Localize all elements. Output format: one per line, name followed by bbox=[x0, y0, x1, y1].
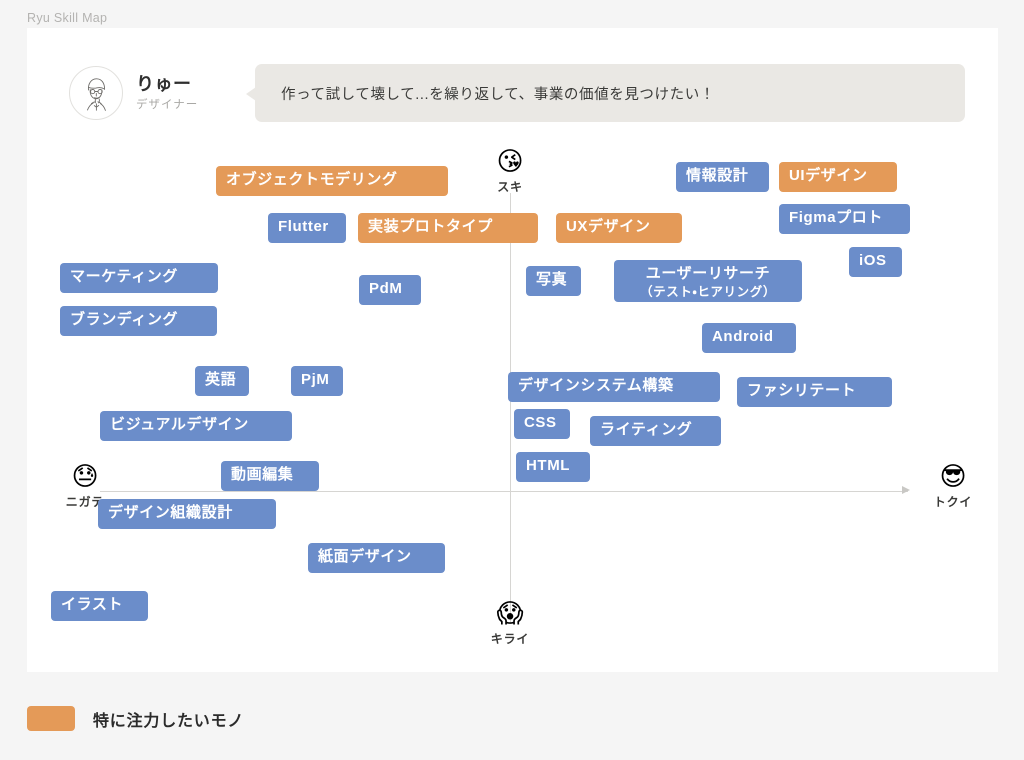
legend-swatch bbox=[27, 706, 75, 731]
skill-chip[interactable]: 英語 bbox=[195, 366, 249, 396]
skill-chip[interactable]: オブジェクトモデリング bbox=[216, 166, 448, 196]
skill-chip[interactable]: PjM bbox=[291, 366, 343, 396]
sunglasses-face-emoji-icon: 😎 bbox=[918, 463, 988, 489]
skill-chip[interactable]: デザイン組織設計 bbox=[98, 499, 276, 529]
skill-map-canvas: りゅー デザイナー 作って試して壊して...を繰り返して、事業の価値を見つけたい… bbox=[27, 28, 998, 672]
axis-pole-kirai-label: キライ bbox=[475, 630, 545, 647]
skill-chip[interactable]: UXデザイン bbox=[556, 213, 682, 243]
skill-chip[interactable]: 紙面デザイン bbox=[308, 543, 445, 573]
skill-chip[interactable]: CSS bbox=[514, 409, 570, 439]
skill-chip[interactable]: Figmaプロト bbox=[779, 204, 910, 234]
skill-chip[interactable]: UIデザイン bbox=[779, 162, 897, 192]
skill-chip[interactable]: ブランディング bbox=[60, 306, 217, 336]
skill-chip[interactable]: 情報設計 bbox=[676, 162, 769, 192]
speech-bubble: 作って試して壊して...を繰り返して、事業の価値を見つけたい！ bbox=[255, 64, 965, 122]
skill-chip[interactable]: Flutter bbox=[268, 213, 346, 243]
skill-chip[interactable]: Android bbox=[702, 323, 796, 353]
skill-chip[interactable]: ユーザーリサーチ（テスト・ヒアリング） bbox=[614, 260, 802, 302]
skill-chip[interactable]: デザインシステム構築 bbox=[508, 372, 720, 402]
profile-role: デザイナー bbox=[136, 99, 198, 112]
skill-chip[interactable]: HTML bbox=[516, 452, 590, 482]
skill-chip[interactable]: PdM bbox=[359, 275, 421, 305]
profile: りゅー デザイナー bbox=[69, 66, 198, 120]
kissing-heart-emoji-icon: 😘 bbox=[475, 148, 545, 174]
skill-chip[interactable]: マーケティング bbox=[60, 263, 218, 293]
skill-chip[interactable]: ビジュアルデザイン bbox=[100, 411, 292, 441]
vertical-axis bbox=[510, 193, 511, 623]
sweating-face-emoji-icon: 😓 bbox=[50, 463, 120, 489]
axis-pole-suki: 😘 スキ bbox=[475, 148, 545, 195]
skill-chip-label: ユーザーリサーチ bbox=[646, 265, 771, 282]
skill-chip[interactable]: 実装プロトタイプ bbox=[358, 213, 538, 243]
speech-bubble-text: 作って試して壊して...を繰り返して、事業の価値を見つけたい！ bbox=[281, 83, 715, 104]
axis-pole-kirai: 😱 キライ bbox=[475, 600, 545, 647]
horizontal-axis bbox=[100, 491, 908, 492]
skill-chip[interactable]: ライティング bbox=[590, 416, 721, 446]
skill-chip-sublabel: （テスト・ヒアリング） bbox=[625, 284, 791, 300]
page-title: Ryu Skill Map bbox=[27, 12, 107, 25]
horizontal-axis-arrow-icon bbox=[902, 486, 910, 494]
axis-pole-suki-label: スキ bbox=[475, 178, 545, 195]
screaming-face-emoji-icon: 😱 bbox=[475, 600, 545, 626]
profile-name: りゅー bbox=[136, 74, 198, 95]
skill-chip[interactable]: ファシリテート bbox=[737, 377, 892, 407]
skill-chip[interactable]: イラスト bbox=[51, 591, 148, 621]
axis-pole-tokui-label: トクイ bbox=[918, 493, 988, 510]
legend-label: 特に注力したいモノ bbox=[93, 707, 244, 731]
skill-chip[interactable]: iOS bbox=[849, 247, 902, 277]
avatar bbox=[69, 66, 123, 120]
skill-chip[interactable]: 動画編集 bbox=[221, 461, 319, 491]
skill-chip[interactable]: 写真 bbox=[526, 266, 581, 296]
legend: 特に注力したいモノ bbox=[27, 706, 244, 731]
axis-pole-tokui: 😎 トクイ bbox=[918, 463, 988, 510]
profile-text-block: りゅー デザイナー bbox=[136, 74, 198, 112]
